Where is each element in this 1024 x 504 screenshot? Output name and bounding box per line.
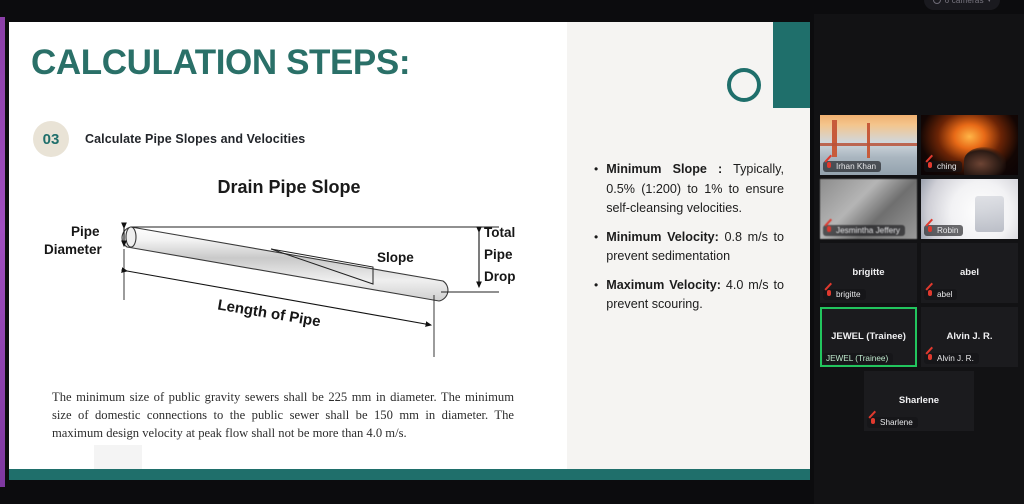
bullet-text: Minimum Velocity: 0.8 m/s to prevent sed…: [606, 228, 784, 267]
diagram-label-pipe-drop-2: Pipe: [484, 247, 513, 262]
list-item: • Minimum Velocity: 0.8 m/s to prevent s…: [594, 228, 784, 267]
pipe-diagram-svg: [39, 177, 539, 372]
participant-display-name: JEWEL (Trainee): [827, 332, 910, 342]
participant-name: Irhan Khan: [836, 162, 876, 171]
mic-muted-icon: [927, 290, 934, 299]
participant-name-chip: JEWEL (Trainee): [823, 353, 893, 364]
participant-name: ching: [937, 162, 957, 171]
mic-muted-icon: [927, 354, 934, 363]
presentation-slide: CALCULATION STEPS: 03 Calculate Pipe Slo…: [9, 22, 810, 480]
slide-footer-shape: [94, 445, 142, 469]
participant-name-chip: Robin: [924, 225, 963, 236]
participant-name-chip: ching: [924, 161, 962, 172]
diagram-label-diameter: Diameter: [44, 242, 102, 257]
participant-name: Jesmintha Jeffery: [836, 226, 900, 235]
mic-muted-icon: [927, 226, 934, 235]
participant-tile-alvin-j-r[interactable]: Alvin J. R. Alvin J. R.: [921, 307, 1018, 367]
participant-tile-robin[interactable]: Robin: [921, 179, 1018, 239]
mic-muted-icon: [927, 162, 934, 171]
participant-name: brigitte: [836, 290, 861, 299]
participant-row: Jesmintha Jeffery Robin: [820, 179, 1018, 239]
bullet-dot-icon: •: [594, 228, 598, 267]
standards-paragraph: The minimum size of public gravity sewer…: [52, 389, 514, 443]
diagram-label-drop: Drop: [484, 269, 516, 284]
participant-display-name: abel: [956, 268, 983, 278]
bullet-heading: Minimum Velocity:: [606, 230, 719, 244]
participant-row: JEWEL (Trainee) JEWEL (Trainee) Alvin J.…: [820, 307, 1018, 367]
mic-muted-icon: [826, 290, 833, 299]
participant-display-name: Sharlene: [895, 396, 943, 406]
mic-muted-icon: [870, 418, 877, 427]
participant-name-chip: Irhan Khan: [823, 161, 881, 172]
participant-display-name: brigitte: [848, 268, 888, 278]
mic-muted-icon: [826, 226, 833, 235]
list-item: • Minimum Slope : Typically, 0.5% (1:200…: [594, 160, 784, 219]
participant-name-chip: Sharlene: [867, 417, 918, 428]
participant-name: JEWEL (Trainee): [826, 354, 888, 363]
step-number-badge: 03: [33, 121, 69, 157]
bullet-dot-icon: •: [594, 276, 598, 315]
chevron-down-icon: ▾: [988, 0, 991, 4]
step-header: 03 Calculate Pipe Slopes and Velocities: [33, 121, 305, 157]
drain-pipe-slope-diagram: Drain Pipe Slope: [39, 177, 539, 372]
list-item: • Maximum Velocity: 4.0 m/s to prevent s…: [594, 276, 784, 315]
participant-tile-jesmintha-jeffery[interactable]: Jesmintha Jeffery: [820, 179, 917, 239]
participant-tile-jewel-trainee[interactable]: JEWEL (Trainee) JEWEL (Trainee): [820, 307, 917, 367]
page-title: CALCULATION STEPS:: [31, 45, 410, 80]
diagram-label-slope: Slope: [377, 250, 414, 265]
participant-tile-ching[interactable]: ching: [921, 115, 1018, 175]
bullet-text: Maximum Velocity: 4.0 m/s to prevent sco…: [606, 276, 784, 315]
bullet-heading: Maximum Velocity:: [606, 278, 721, 292]
participant-row: brigitte brigitte abel abel: [820, 243, 1018, 303]
participant-name-chip: Jesmintha Jeffery: [823, 225, 905, 236]
participant-tile-abel[interactable]: abel abel: [921, 243, 1018, 303]
participant-grid: Irhan Khan ching Jesmintha Jeffery: [820, 115, 1018, 431]
participant-video-rail: Irhan Khan ching Jesmintha Jeffery: [814, 14, 1024, 504]
diagram-label-total: Total: [484, 225, 515, 240]
participant-tile-brigitte[interactable]: brigitte brigitte: [820, 243, 917, 303]
bullet-text: Minimum Slope : Typically, 0.5% (1:200) …: [606, 160, 784, 219]
participant-tile-irhan-khan[interactable]: Irhan Khan: [820, 115, 917, 175]
participant-name-chip: brigitte: [823, 289, 866, 300]
step-label: Calculate Pipe Slopes and Velocities: [85, 132, 305, 146]
slide-bottom-bar: [9, 469, 810, 480]
participant-tile-sharlene[interactable]: Sharlene Sharlene: [864, 371, 974, 431]
bullet-dot-icon: •: [594, 160, 598, 219]
bullet-heading: Minimum Slope :: [606, 162, 722, 176]
cameras-dropdown[interactable]: 6 cameras ▾: [924, 0, 1000, 10]
participant-name: Robin: [937, 226, 958, 235]
mic-muted-icon: [826, 162, 833, 171]
slide-corner-accent: [773, 22, 810, 108]
participant-name-chip: abel: [924, 289, 957, 300]
bullet-list: • Minimum Slope : Typically, 0.5% (1:200…: [594, 160, 784, 324]
camera-icon: [933, 0, 941, 4]
participant-name: abel: [937, 290, 952, 299]
meeting-window: 6 cameras ▾ CALCULATION STEPS: 03 Calcul…: [0, 0, 1024, 504]
cameras-label: 6 cameras: [945, 0, 984, 5]
participant-row: Sharlene Sharlene: [820, 371, 1018, 431]
participant-display-name: Alvin J. R.: [943, 332, 997, 342]
shared-screen-region[interactable]: CALCULATION STEPS: 03 Calculate Pipe Slo…: [0, 17, 812, 487]
participant-row: Irhan Khan ching: [820, 115, 1018, 175]
participant-name: Alvin J. R.: [937, 354, 974, 363]
diagram-label-pipe: Pipe: [71, 224, 100, 239]
participant-name-chip: Alvin J. R.: [924, 353, 979, 364]
screen-share-border: [0, 17, 5, 487]
circle-accent-icon: [727, 68, 761, 102]
participant-name: Sharlene: [880, 418, 913, 427]
